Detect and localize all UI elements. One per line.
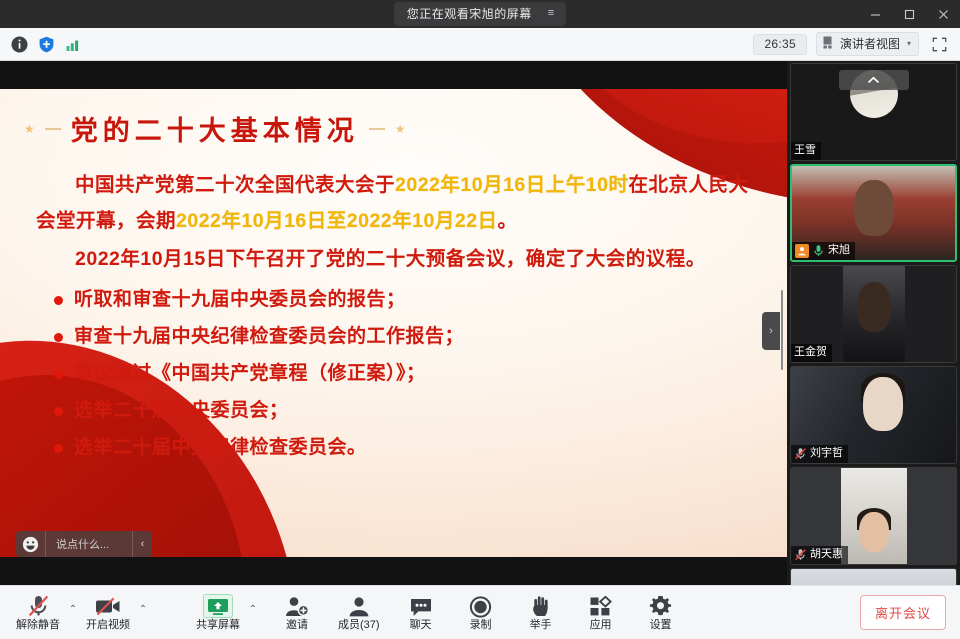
- bullet-text: 选举二十届中央纪律检查委员会。: [74, 431, 367, 465]
- record-button[interactable]: 录制: [458, 589, 504, 637]
- participant-name-badge: 王金贺: [791, 344, 832, 362]
- invite-button[interactable]: 邀请: [274, 589, 320, 637]
- gear-icon: [649, 594, 672, 618]
- maximize-button[interactable]: [892, 0, 926, 28]
- participant-name-badge: 胡天惠: [791, 546, 848, 564]
- mic-on-icon: [812, 244, 825, 257]
- p1-seg1: 中国共产党第二十次全国代表大会于: [75, 174, 395, 196]
- participant-video-strip: 王雪 宋旭 王金贺: [787, 61, 960, 585]
- layout-icon: [823, 36, 836, 52]
- meeting-window: 您正在观看宋旭的屏幕 ≡: [0, 0, 960, 639]
- raise-hand-label: 举手: [530, 619, 552, 632]
- mic-muted-icon: [26, 594, 51, 618]
- list-item: 听取和审查十九届中央委员会的报告；: [54, 283, 759, 317]
- meeting-controls-bar: 解除静音 ⌃ 开启视频 ⌃: [0, 585, 960, 639]
- scroll-up-button[interactable]: [839, 70, 909, 90]
- invite-label: 邀请: [286, 619, 308, 632]
- bullet-text: 审查十九届中央纪律检查委员会的工作报告；: [74, 320, 464, 354]
- slide-paragraph-2: 2022年10月15日下午召开了党的二十大预备会议，确定了大会的议程。: [36, 241, 759, 277]
- video-label: 开启视频: [86, 619, 130, 632]
- video-face: [854, 180, 894, 236]
- fullscreen-button[interactable]: [928, 33, 950, 55]
- info-icon[interactable]: [9, 34, 29, 54]
- hand-icon: [530, 594, 552, 618]
- chevron-down-icon: ▾: [907, 39, 911, 48]
- user-icon: [347, 594, 371, 618]
- raise-hand-button[interactable]: 举手: [518, 589, 564, 637]
- toolbar-right-controls: 26:35 演讲者视图 ▾: [753, 32, 960, 56]
- meeting-toolbar: 26:35 演讲者视图 ▾: [0, 28, 960, 61]
- slide-title: 党的二十大基本情况: [71, 109, 359, 148]
- controls-left-group: 解除静音 ⌃ 开启视频 ⌃: [0, 589, 150, 637]
- camera-off-icon: [94, 594, 122, 618]
- meeting-timer: 26:35: [753, 34, 807, 55]
- user-add-icon: [284, 594, 310, 618]
- participant-name: 宋旭: [828, 243, 850, 258]
- menu-lines-icon[interactable]: ≡: [548, 8, 553, 19]
- settings-button[interactable]: 设置: [638, 589, 684, 637]
- share-screen-label: 共享屏幕: [196, 619, 240, 632]
- chat-bubble-icon: [409, 594, 433, 618]
- video-button[interactable]: 开启视频: [82, 589, 134, 637]
- bullet-text: 选举二十届中央委员会；: [74, 394, 289, 428]
- shield-icon[interactable]: [36, 34, 56, 54]
- mic-muted-icon: [794, 447, 807, 460]
- list-item: 审查十九届中央纪律检查委员会的工作报告；: [54, 320, 759, 354]
- participant-name: 胡天惠: [810, 547, 843, 562]
- participant-tile[interactable]: 王金贺: [790, 265, 957, 363]
- view-mode-label: 演讲者视图: [840, 35, 900, 52]
- leave-meeting-button[interactable]: 离开会议: [860, 595, 946, 630]
- participant-tile-active-speaker[interactable]: 宋旭: [790, 164, 957, 262]
- members-button[interactable]: 成员(37): [334, 589, 384, 637]
- p1-highlight-1: 2022年10月16日上午10时: [395, 174, 628, 196]
- members-label: 成员(37): [338, 619, 380, 632]
- signal-bars-icon[interactable]: [63, 34, 83, 54]
- participant-name: 王雪: [794, 143, 816, 158]
- shared-screen-stage[interactable]: ★ 党的二十大基本情况 ★ 中国共产党第二十次全国代表大会于2022年10月16…: [0, 61, 787, 585]
- video-face: [859, 512, 889, 552]
- star-left-icon: ★: [24, 122, 35, 136]
- participant-tile[interactable]: 刘宇哲: [790, 366, 957, 464]
- video-options-caret[interactable]: ⌃: [136, 589, 150, 637]
- bullet-dot-icon: [54, 370, 63, 379]
- list-item: 审议通过《中国共产党章程（修正案）》；: [54, 357, 759, 391]
- quick-chat-bar[interactable]: 说点什么... ‹: [16, 531, 152, 557]
- share-screen-icon: [203, 594, 233, 618]
- bullet-dot-icon: [54, 296, 63, 305]
- mute-button[interactable]: 解除静音: [12, 589, 64, 637]
- apps-grid-icon: [589, 594, 612, 618]
- participant-tile[interactable]: 王雪: [790, 63, 957, 161]
- bullet-text: 听取和审查十九届中央委员会的报告；: [74, 283, 406, 317]
- title-dash-left: [45, 128, 61, 130]
- p1-seg3: 。: [498, 210, 518, 232]
- slide-bullet-list: 听取和审查十九届中央委员会的报告； 审查十九届中央纪律检查委员会的工作报告； 审…: [36, 283, 759, 465]
- participant-name-badge: 王雪: [791, 142, 821, 160]
- title-bar: 您正在观看宋旭的屏幕 ≡: [0, 0, 960, 28]
- controls-center-group: 共享屏幕 ⌃ 邀请: [192, 589, 684, 637]
- slide-paragraph-1: 中国共产党第二十次全国代表大会于2022年10月16日上午10时在北京人民大会堂…: [36, 167, 759, 239]
- mute-label: 解除静音: [16, 619, 60, 632]
- participant-name: 刘宇哲: [810, 446, 843, 461]
- chat-input[interactable]: 说点什么...: [46, 536, 132, 552]
- participant-tile[interactable]: 胡天惠: [790, 467, 957, 565]
- panel-divider: [781, 290, 783, 370]
- minimize-button[interactable]: [858, 0, 892, 28]
- bullet-dot-icon: [54, 407, 63, 416]
- presentation-slide: ★ 党的二十大基本情况 ★ 中国共产党第二十次全国代表大会于2022年10月16…: [0, 89, 787, 557]
- list-item: 选举二十届中央纪律检查委员会。: [54, 431, 759, 465]
- participant-name-badge: 刘宇哲: [791, 445, 848, 463]
- mute-options-caret[interactable]: ⌃: [66, 589, 80, 637]
- mic-muted-icon: [794, 548, 807, 561]
- chevron-left-icon[interactable]: ‹: [132, 531, 152, 557]
- apps-button[interactable]: 应用: [578, 589, 624, 637]
- settings-label: 设置: [650, 619, 672, 632]
- collapse-panel-handle[interactable]: ›: [762, 312, 780, 350]
- window-controls: [858, 0, 960, 28]
- participant-name: 王金贺: [794, 345, 827, 360]
- participant-name-badge: 宋旭: [792, 242, 855, 260]
- slide-body: 中国共产党第二十次全国代表大会于2022年10月16日上午10时在北京人民大会堂…: [0, 167, 787, 468]
- video-face: [857, 282, 891, 332]
- view-mode-dropdown[interactable]: 演讲者视图 ▾: [816, 32, 919, 56]
- bullet-dot-icon: [54, 333, 63, 342]
- slide-title-row: ★ 党的二十大基本情况 ★: [0, 109, 787, 148]
- share-options-caret[interactable]: ⌃: [246, 589, 260, 637]
- close-button[interactable]: [926, 0, 960, 28]
- watching-screen-text: 您正在观看宋旭的屏幕: [407, 5, 532, 22]
- p1-highlight-2: 2022年10月16日至2022年10月22日: [176, 210, 498, 232]
- video-face: [863, 377, 903, 431]
- toolbar-left-icons: [0, 34, 83, 54]
- record-label: 录制: [470, 619, 492, 632]
- bullet-dot-icon: [54, 444, 63, 453]
- host-badge-icon: [795, 244, 809, 258]
- share-screen-button[interactable]: 共享屏幕: [192, 589, 244, 637]
- bullet-text: 审议通过《中国共产党章程（修正案）》；: [74, 357, 426, 391]
- watching-screen-banner[interactable]: 您正在观看宋旭的屏幕 ≡: [394, 2, 566, 26]
- apps-label: 应用: [590, 619, 612, 632]
- smiley-icon[interactable]: [16, 531, 46, 557]
- title-dash-right: [369, 128, 385, 130]
- list-item: 选举二十届中央委员会；: [54, 394, 759, 428]
- chat-label: 聊天: [410, 619, 432, 632]
- controls-right-group: 离开会议: [860, 595, 960, 630]
- record-circle-icon: [469, 594, 492, 618]
- star-right-icon: ★: [395, 122, 406, 136]
- chat-button[interactable]: 聊天: [398, 589, 444, 637]
